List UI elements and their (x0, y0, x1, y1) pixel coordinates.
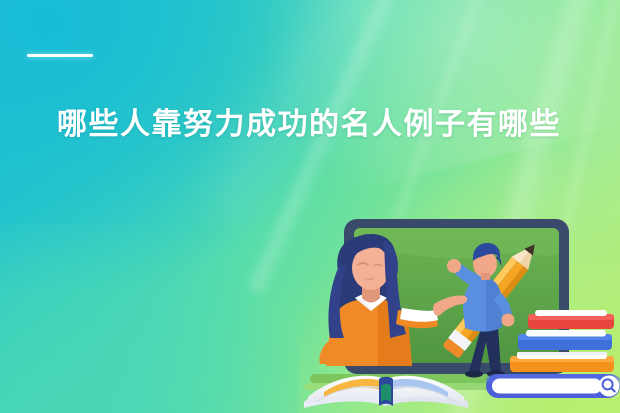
search-input (492, 379, 602, 394)
search-bar (486, 374, 620, 398)
accent-rule (27, 54, 93, 57)
banner-image: 哪些人靠努力成功的名人例子有哪些 (0, 0, 620, 413)
banner-title: 哪些人靠努力成功的名人例子有哪些 (57, 107, 587, 143)
search-icon (599, 376, 620, 397)
background-teal-glow (0, 223, 298, 413)
education-illustration (286, 216, 620, 413)
